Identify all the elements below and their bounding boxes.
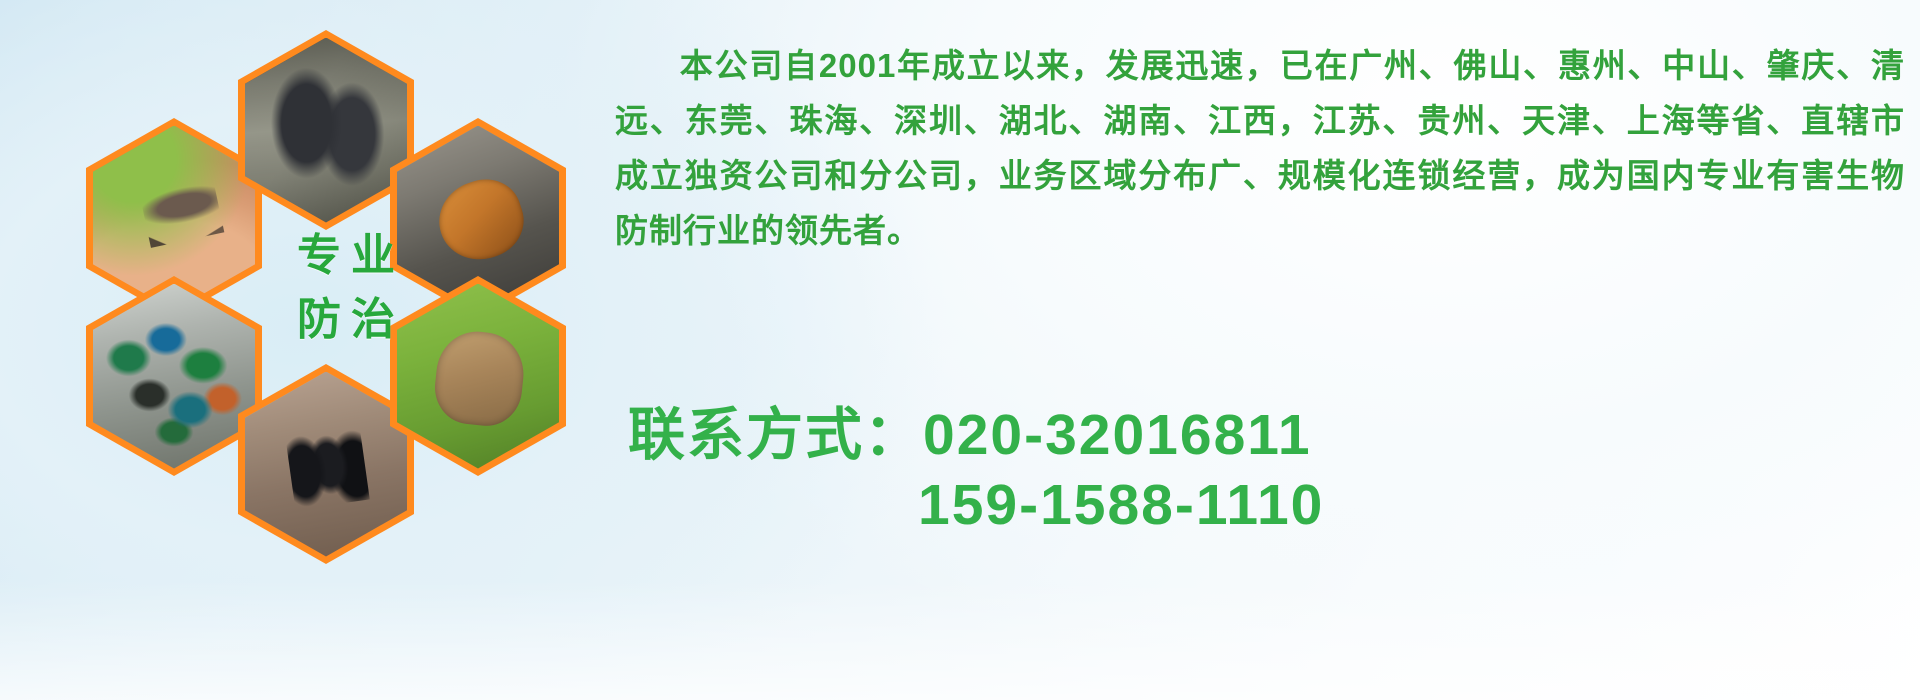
badge-line-1: 专业 — [297, 224, 405, 288]
contact-block: 联系方式：020-32016811 159-1588-1110 — [628, 400, 1908, 540]
hexagon-photo-cluster: 专业 防治 — [86, 8, 586, 568]
flies-photo — [86, 276, 262, 476]
badge-line-2: 防治 — [297, 288, 405, 352]
badge-text: 专业 防治 — [261, 188, 441, 388]
ant-photo — [238, 364, 414, 564]
flies-image — [93, 284, 255, 469]
company-description: 本公司自2001年成立以来，发展迅速，已在广州、佛山、惠州、中山、肇庆、清远、东… — [615, 38, 1905, 258]
promo-banner: 专业 防治 本公司自2001年成立以来，发展迅速，已在广州、佛山、惠州、中山、肇… — [0, 0, 1920, 700]
contact-phone-primary[interactable]: 联系方式：020-32016811 — [628, 400, 1908, 470]
paragraph-text: 本公司自2001年成立以来，发展迅速，已在广州、佛山、惠州、中山、肇庆、清远、东… — [615, 47, 1905, 249]
contact-phone-secondary[interactable]: 159-1588-1110 — [628, 470, 1908, 540]
ant-image — [245, 372, 407, 557]
